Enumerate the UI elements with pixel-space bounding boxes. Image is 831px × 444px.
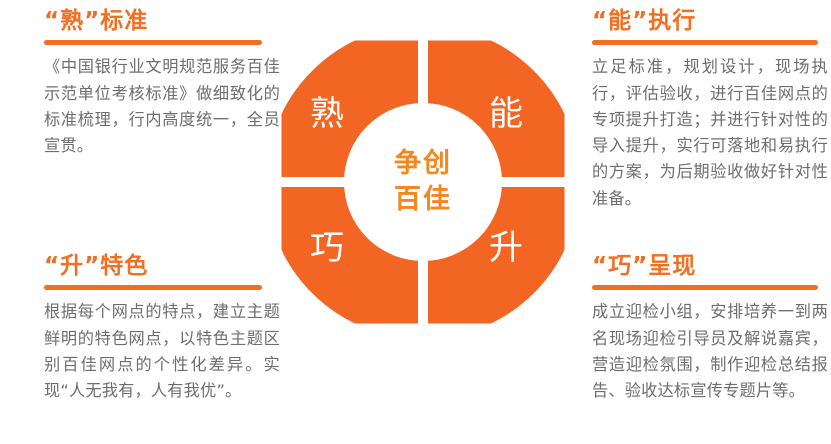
panel-heading-qiao-present: “巧”呈现 bbox=[592, 253, 828, 279]
panel-shu-standard: “熟”标准 《中国银行业文明规范服务百佳示范单位考核标准》做细致化的标准梳理，行… bbox=[44, 8, 280, 159]
panel-sheng-feature: “升”特色 根据每个网点的特点，建立主题鲜明的特色网点，以特色主题区别百佳网点的… bbox=[44, 253, 280, 404]
panel-rule-neng-execute bbox=[592, 40, 818, 45]
panel-body-sheng-feature: 根据每个网点的特点，建立主题鲜明的特色网点，以特色主题区别百佳网点的个性化差异。… bbox=[44, 299, 280, 404]
wheel-segment-label-bottom-left: 巧 bbox=[310, 231, 344, 265]
donut-wheel: 熟 能 巧 升 争创 百佳 bbox=[266, 25, 580, 339]
panel-qiao-present: “巧”呈现 成立迎检小组，安排培养一到两名现场迎检引导员及解说嘉宾，营造迎检氛围… bbox=[592, 253, 828, 404]
wheel-segment-label-top-left: 熟 bbox=[310, 97, 344, 131]
infographic-canvas: “熟”标准 《中国银行业文明规范服务百佳示范单位考核标准》做细致化的标准梳理，行… bbox=[0, 0, 831, 444]
panel-rule-shu-standard bbox=[44, 40, 262, 45]
panel-neng-execute: “能”执行 立足标准，规划设计，现场执行，评估验收，进行百佳网点的专项提升打造；… bbox=[592, 8, 828, 212]
panel-heading-sheng-feature: “升”特色 bbox=[44, 253, 280, 279]
panel-body-qiao-present: 成立迎检小组，安排培养一到两名现场迎检引导员及解说嘉宾，营造迎检氛围，制作迎检总… bbox=[592, 299, 828, 404]
wheel-segment-label-top-right: 能 bbox=[489, 97, 523, 131]
donut-wheel-svg bbox=[266, 25, 580, 339]
panel-heading-neng-execute: “能”执行 bbox=[592, 8, 828, 34]
wheel-segment-label-bottom-right: 升 bbox=[489, 231, 523, 265]
panel-heading-shu-standard: “熟”标准 bbox=[44, 8, 280, 34]
panel-rule-qiao-present bbox=[592, 285, 818, 290]
panel-body-shu-standard: 《中国银行业文明规范服务百佳示范单位考核标准》做细致化的标准梳理，行内高度统一，… bbox=[44, 54, 280, 159]
panel-body-neng-execute: 立足标准，规划设计，现场执行，评估验收，进行百佳网点的专项提升打造；并进行针对性… bbox=[592, 54, 828, 211]
panel-rule-sheng-feature bbox=[44, 285, 262, 290]
